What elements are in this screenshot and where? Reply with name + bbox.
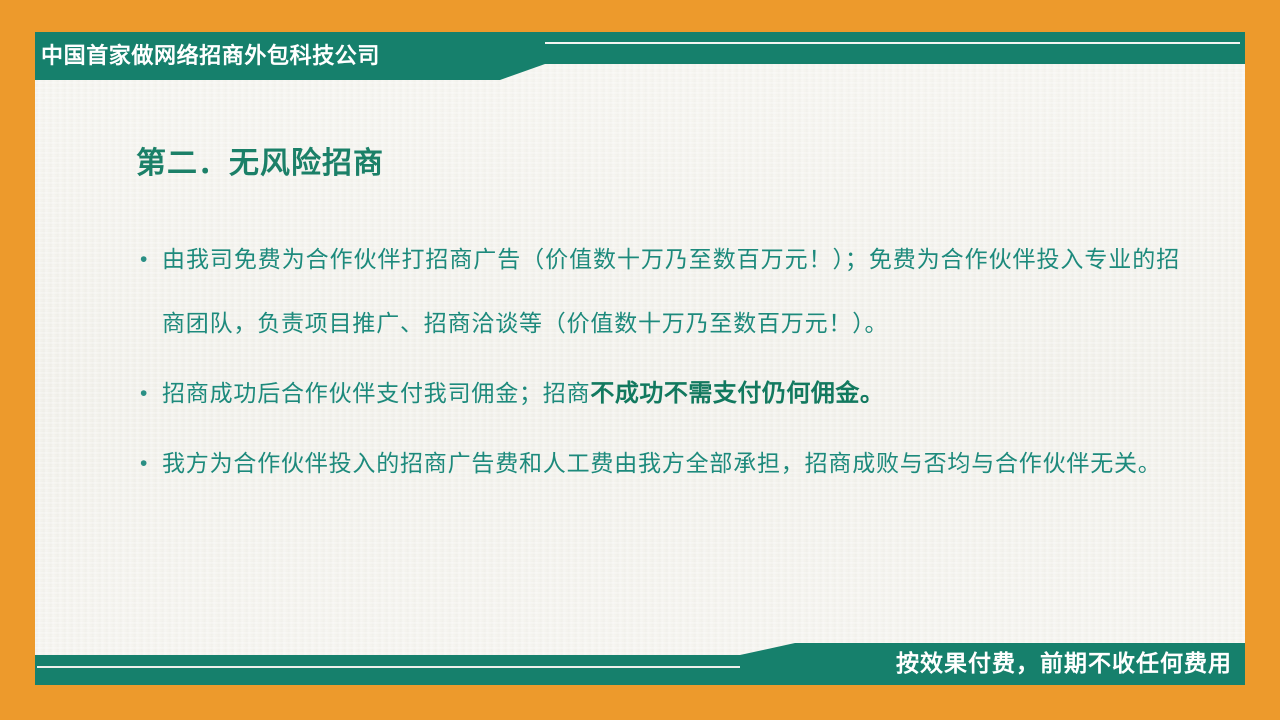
emphasis-text: 不成功不需支付仍何佣金。	[590, 380, 884, 407]
bullet-list: •由我司免费为合作伙伴打招商广告（价值数十万乃至数百万元！）；免费为合作伙伴投入…	[140, 228, 1180, 502]
bullet-dot-icon: •	[140, 228, 162, 292]
list-item-text: 由我司免费为合作伙伴打招商广告（价值数十万乃至数百万元！）；免费为合作伙伴投入专…	[162, 228, 1180, 356]
page-title: 第二．无风险招商	[136, 138, 384, 182]
company-title: 中国首家做网络招商外包科技公司	[41, 36, 511, 76]
plain-text: 招商成功后合作伙伴支付我司佣金；招商	[162, 381, 590, 406]
list-item: •我方为合作伙伴投入的招商广告费和人工费由我方全部承担，招商成败与否均与合作伙伴…	[140, 432, 1180, 496]
list-item-text: 我方为合作伙伴投入的招商广告费和人工费由我方全部承担，招商成败与否均与合作伙伴无…	[162, 432, 1180, 496]
slide-canvas: 中国首家做网络招商外包科技公司 第二．无风险招商 •由我司免费为合作伙伴打招商广…	[0, 0, 1280, 720]
header-divider-line	[545, 42, 1240, 44]
plain-text: 我方为合作伙伴投入的招商广告费和人工费由我方全部承担，招商成败与否均与合作伙伴无…	[162, 451, 1162, 476]
list-item: •由我司免费为合作伙伴打招商广告（价值数十万乃至数百万元！）；免费为合作伙伴投入…	[140, 228, 1180, 356]
bullet-dot-icon: •	[140, 432, 162, 496]
bullet-dot-icon: •	[140, 362, 162, 426]
list-item-text: 招商成功后合作伙伴支付我司佣金；招商不成功不需支付仍何佣金。	[162, 362, 1180, 426]
footer-tagline: 按效果付费，前期不收任何费用	[896, 645, 1232, 681]
footer-divider-line	[37, 666, 740, 668]
plain-text: 由我司免费为合作伙伴打招商广告（价值数十万乃至数百万元！）；免费为合作伙伴投入专…	[162, 247, 1180, 336]
list-item: •招商成功后合作伙伴支付我司佣金；招商不成功不需支付仍何佣金。	[140, 362, 1180, 426]
